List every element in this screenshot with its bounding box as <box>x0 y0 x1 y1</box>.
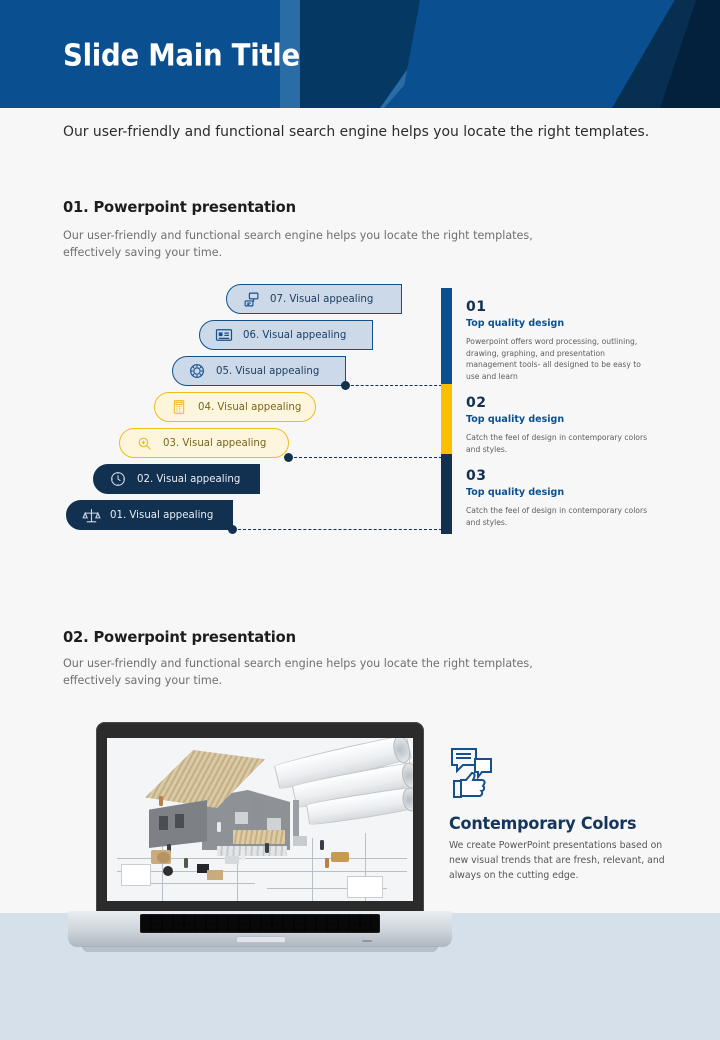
step-pill-01-label: 01. Visual appealing <box>110 509 213 521</box>
description-02-text: Catch the feel of design in contemporary… <box>466 432 656 456</box>
laptop-lid <box>96 722 424 914</box>
section1-body-line2: effectively saving your time. <box>63 244 587 261</box>
section2-title: 02. Powerpoint presentation <box>63 628 296 646</box>
header-shape-mid <box>400 0 650 108</box>
section1-body: Our user-friendly and functional search … <box>63 227 587 260</box>
laptop-mockup <box>68 722 452 962</box>
section2-body-line1: Our user-friendly and functional search … <box>63 655 587 672</box>
description-01-text: Powerpoint offers word processing, outli… <box>466 336 656 383</box>
slide-header: Slide Main Title <box>0 0 720 108</box>
slide-page: Slide Main Title Our user-friendly and f… <box>0 0 720 1040</box>
connector-line-2 <box>289 457 442 458</box>
construction-blueprint-image <box>107 738 413 901</box>
feature-text: We create PowerPoint presentations based… <box>449 838 673 883</box>
connector-dot-3 <box>228 525 237 534</box>
description-01-subtitle: Top quality design <box>466 318 656 329</box>
step-pill-05-label: 05. Visual appealing <box>216 365 319 377</box>
scales-balance-icon <box>76 506 106 525</box>
step-pill-03[interactable]: 03. Visual appealing <box>119 428 289 458</box>
section2-body-line2: effectively saving your time. <box>63 672 587 689</box>
magnifier-icon <box>129 435 159 452</box>
desc-bar-03 <box>441 454 452 534</box>
description-block-03: 03 Top quality design Catch the feel of … <box>466 469 656 528</box>
step-pill-01[interactable]: 01. Visual appealing <box>66 500 233 530</box>
laptop-foot-shadow <box>82 946 438 952</box>
laptop-screen <box>107 738 413 901</box>
section2-body: Our user-friendly and functional search … <box>63 655 587 688</box>
step-pill-02[interactable]: 02. Visual appealing <box>93 464 260 494</box>
step-pill-07-label: 07. Visual appealing <box>270 293 373 305</box>
connector-line-3 <box>233 529 442 530</box>
section1-body-line1: Our user-friendly and functional search … <box>63 227 587 244</box>
desc-bar-01 <box>441 288 452 384</box>
feature-title: Contemporary Colors <box>449 814 636 833</box>
clock-icon <box>103 470 133 488</box>
thumbs-up-speech-bubble-icon <box>449 745 495 801</box>
description-01-number: 01 <box>466 300 656 315</box>
step-pill-02-label: 02. Visual appealing <box>137 473 240 485</box>
step-pill-03-label: 03. Visual appealing <box>163 437 266 449</box>
description-03-subtitle: Top quality design <box>466 487 656 498</box>
description-02-subtitle: Top quality design <box>466 414 656 425</box>
id-card-icon <box>209 326 239 344</box>
desc-bar-02 <box>441 384 452 454</box>
step-pill-06[interactable]: 06. Visual appealing <box>199 320 373 350</box>
page-title: Slide Main Title <box>63 39 300 74</box>
step-pill-05[interactable]: 05. Visual appealing <box>172 356 346 386</box>
laptop-trackpad <box>236 936 286 943</box>
step-pill-04-label: 04. Visual appealing <box>198 401 301 413</box>
connector-dot-1 <box>341 381 350 390</box>
section1-title: 01. Powerpoint presentation <box>63 198 296 216</box>
description-block-02: 02 Top quality design Catch the feel of … <box>466 396 656 455</box>
laptop-port <box>362 940 372 942</box>
description-02-number: 02 <box>466 396 656 411</box>
gear-circle-icon <box>182 362 212 380</box>
step-pill-04[interactable]: 04. Visual appealing <box>154 392 316 422</box>
slide-subtitle: Our user-friendly and functional search … <box>63 124 658 140</box>
description-03-text: Catch the feel of design in contemporary… <box>466 505 656 529</box>
description-block-01: 01 Top quality design Powerpoint offers … <box>466 300 656 383</box>
description-03-number: 03 <box>466 469 656 484</box>
calculator-icon <box>164 399 194 415</box>
presentation-screen-icon <box>236 291 266 308</box>
connector-dot-2 <box>284 453 293 462</box>
step-pill-07[interactable]: 07. Visual appealing <box>226 284 402 314</box>
step-pill-06-label: 06. Visual appealing <box>243 329 346 341</box>
connector-line-1 <box>346 385 442 386</box>
laptop-keyboard <box>140 914 380 933</box>
